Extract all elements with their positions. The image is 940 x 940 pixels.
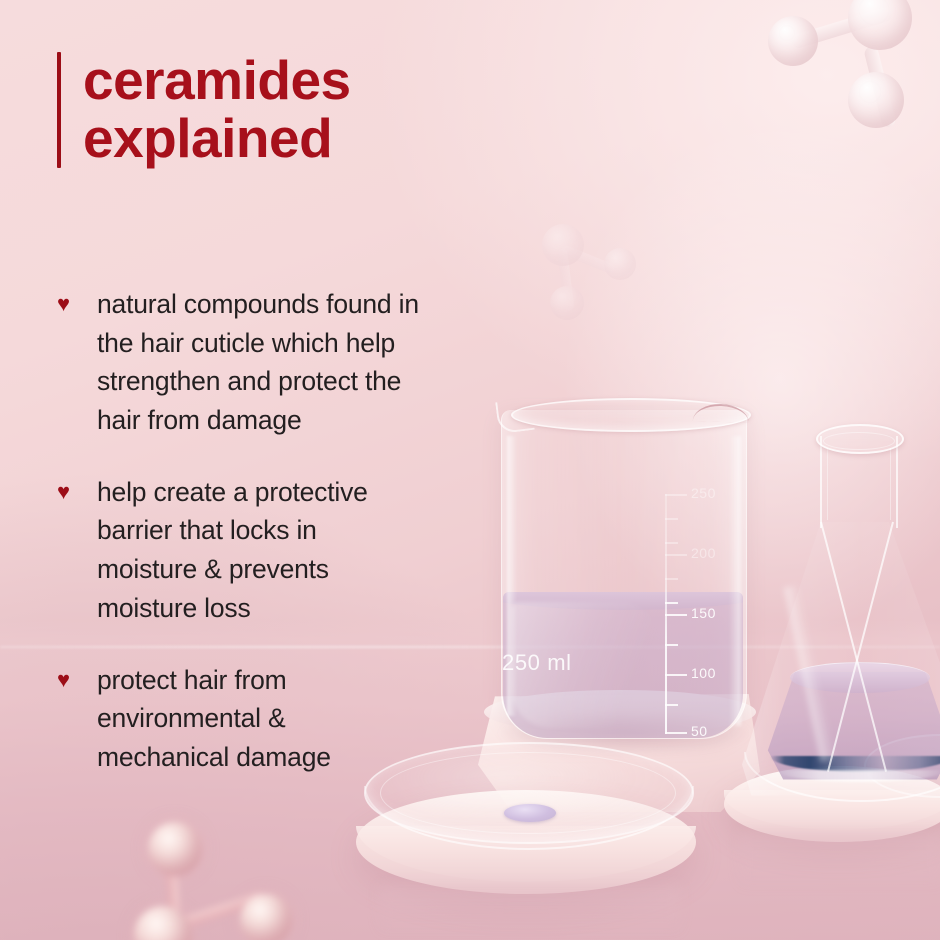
graduation-tick [665,644,678,646]
molecule-mid-icon [528,208,658,328]
graduation-label: 100 [691,665,716,681]
beaker: 250 200 150 100 50 [497,396,749,746]
list-item-text: help create a protective barrier that lo… [97,473,368,628]
heart-icon: ♥ [57,661,97,691]
atom [550,286,584,320]
graduation-tick [665,732,687,734]
list-item-text: natural compounds found in the hair cuti… [97,285,419,440]
atom [134,906,192,940]
erlenmeyer-flask [742,434,940,804]
graduation-label: 200 [691,545,716,561]
atom [542,224,584,266]
graduation-tick [665,578,678,580]
graduation-label: 50 [691,723,708,739]
list-item: ♥ natural compounds found in the hair cu… [57,285,527,440]
graduation-label: 250 [691,485,716,501]
graduation-tick [665,602,678,604]
flask-neck-inner-right [890,448,891,520]
graduation-tick [665,614,687,616]
atom [768,16,818,66]
beaker-graduation-scale: 250 200 150 100 50 [665,492,745,734]
headline-accent-rule [57,52,61,168]
graduation-tick [665,518,678,520]
benefit-list: ♥ natural compounds found in the hair cu… [57,285,527,810]
heart-icon: ♥ [57,285,97,315]
page-title: ceramides explained [83,52,351,168]
flask-neck-inner-left [827,448,828,520]
graduation-tick [665,554,687,556]
graduation-tick [665,542,678,544]
flask-neck-right [896,436,898,528]
headline-block: ceramides explained [57,52,351,168]
atom [604,248,636,280]
flask-mouth-inner [823,432,895,450]
graduation-tick [665,494,687,496]
poster-canvas: 250 200 150 100 50 250 ml [0,0,940,940]
list-item: ♥ protect hair from environmental & mech… [57,661,527,777]
graduation-tick [665,704,678,706]
beaker-rim [497,396,749,430]
graduation-tick [665,674,687,676]
flask-neck-left [820,436,822,528]
heart-icon: ♥ [57,473,97,503]
atom [848,0,912,50]
atom [240,894,292,940]
list-item-text: protect hair from environmental & mechan… [97,661,331,777]
graduation-label: 150 [691,605,716,621]
list-item: ♥ help create a protective barrier that … [57,473,527,628]
atom [848,72,904,128]
molecule-top-right-icon [750,0,940,134]
atom [148,822,202,876]
molecule-bottom-left-icon [128,796,328,940]
